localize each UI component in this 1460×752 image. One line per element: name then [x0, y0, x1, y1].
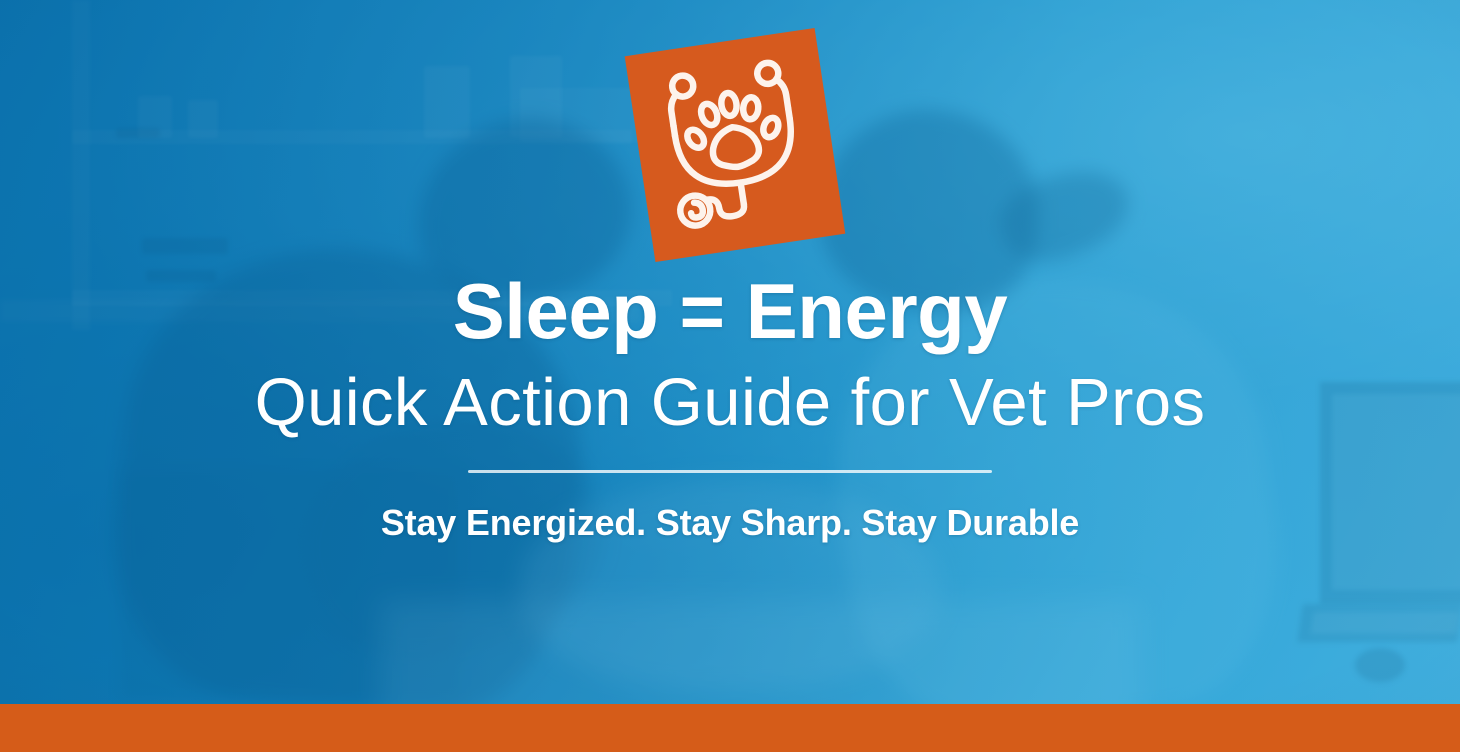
title-divider [468, 470, 992, 473]
stethoscope-paw-icon [649, 55, 821, 235]
title-block: Sleep = Energy Quick Action Guide for Ve… [0, 272, 1460, 543]
bottom-accent-bar [0, 704, 1460, 752]
page-subtitle: Quick Action Guide for Vet Pros [0, 368, 1460, 438]
title-slide: Sleep = Energy Quick Action Guide for Ve… [0, 0, 1460, 752]
logo-badge [625, 28, 846, 262]
page-title: Sleep = Energy [0, 272, 1460, 350]
page-tagline: Stay Energized. Stay Sharp. Stay Durable [0, 503, 1460, 543]
